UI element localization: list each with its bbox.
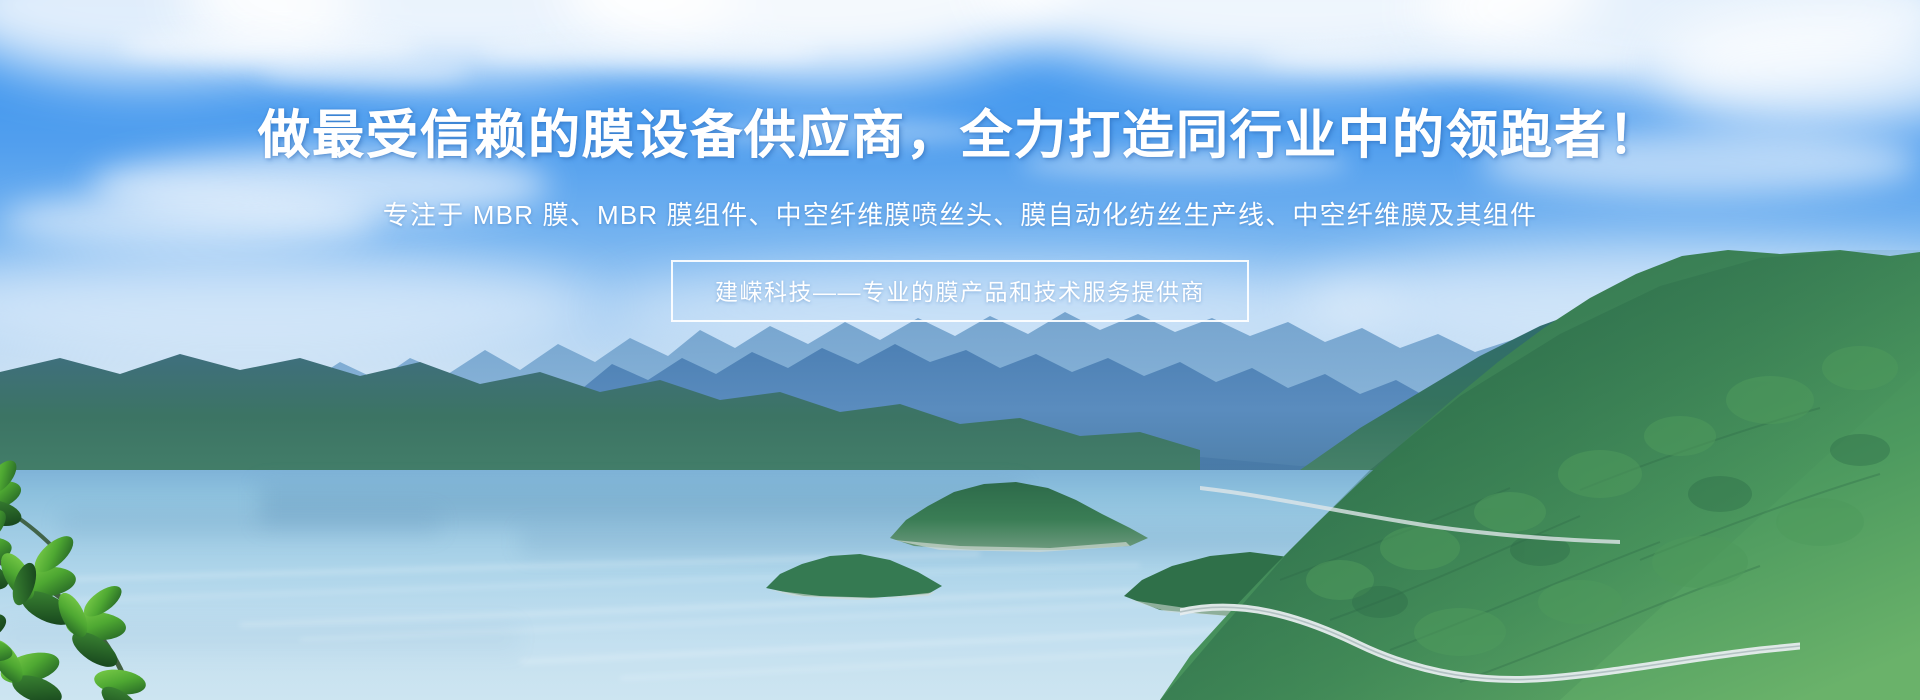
banner-tagline-box: 建嵘科技——专业的膜产品和技术服务提供商 xyxy=(671,260,1249,322)
hero-banner: 做最受信赖的膜设备供应商，全力打造同行业中的领跑者！ 专注于 MBR 膜、MBR… xyxy=(0,0,1920,700)
lake-water xyxy=(0,470,1920,700)
banner-subtitle: 专注于 MBR 膜、MBR 膜组件、中空纤维膜喷丝头、膜自动化纺丝生产线、中空纤… xyxy=(0,195,1920,232)
banner-headline: 做最受信赖的膜设备供应商，全力打造同行业中的领跑者！ xyxy=(0,108,1920,165)
banner-tagline-wrap: 建嵘科技——专业的膜产品和技术服务提供商 xyxy=(0,260,1920,322)
banner-text-stack: 做最受信赖的膜设备供应商，全力打造同行业中的领跑者！ 专注于 MBR 膜、MBR… xyxy=(0,0,1920,322)
